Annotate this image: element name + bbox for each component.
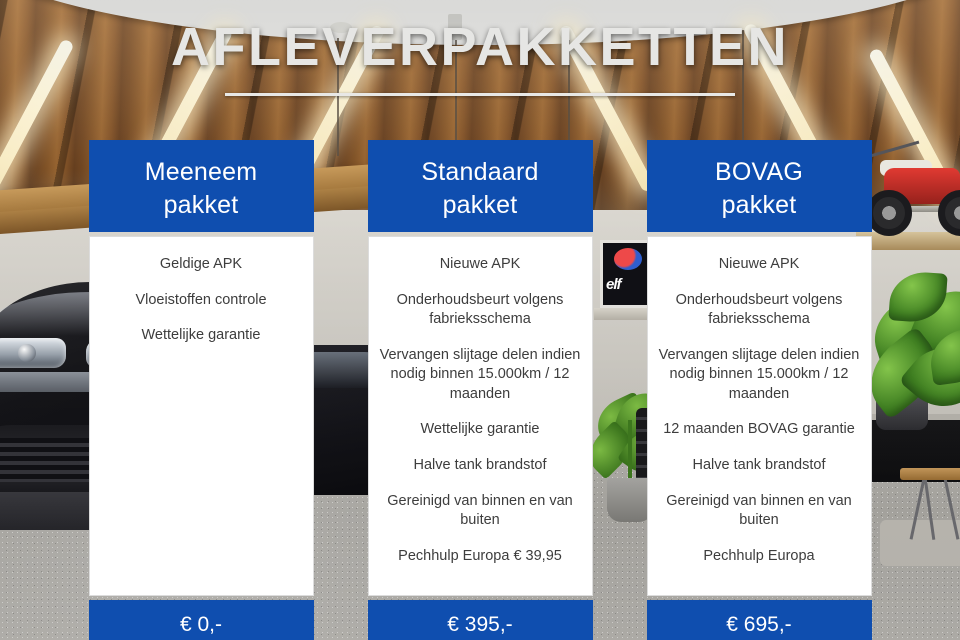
- pricing-cards: Meeneem pakket Geldige APK Vloeistoffen …: [0, 140, 960, 640]
- page-title-block: AFLEVERPAKKETTEN: [0, 18, 960, 96]
- feature-item: Pechhulp Europa € 39,95: [380, 547, 581, 567]
- pricing-page: elf AFLEVERPAKKETTEN: [0, 0, 960, 640]
- card-body-standaard: Nieuwe APK Onderhoudsbeurt volgens fabri…: [368, 236, 593, 596]
- card-title-line2: pakket: [653, 189, 866, 222]
- pricing-card-meeneem[interactable]: Meeneem pakket Geldige APK Vloeistoffen …: [89, 140, 314, 640]
- feature-item: Halve tank brandstof: [380, 456, 581, 476]
- card-header-standaard: Standaard pakket: [368, 140, 593, 232]
- card-title-line1: Meeneem: [95, 156, 308, 189]
- card-price-meeneem[interactable]: € 0,-: [89, 600, 314, 640]
- feature-item: Vloeistoffen controle: [101, 291, 302, 311]
- title-divider: [225, 93, 735, 96]
- feature-item: Gereinigd van binnen en van buiten: [380, 492, 581, 531]
- pricing-card-standaard[interactable]: Standaard pakket Nieuwe APK Onderhoudsbe…: [368, 140, 593, 640]
- feature-item: Onderhoudsbeurt volgens fabrieksschema: [659, 291, 860, 330]
- card-header-meeneem: Meeneem pakket: [89, 140, 314, 232]
- card-header-bovag: BOVAG pakket: [647, 140, 872, 232]
- feature-item: Onderhoudsbeurt volgens fabrieksschema: [380, 291, 581, 330]
- card-body-meeneem: Geldige APK Vloeistoffen controle Wettel…: [89, 236, 314, 596]
- feature-item: Nieuwe APK: [659, 255, 860, 275]
- feature-item: Nieuwe APK: [380, 255, 581, 275]
- card-title-line1: BOVAG: [653, 156, 866, 189]
- card-title-line2: pakket: [374, 189, 587, 222]
- feature-item: Gereinigd van binnen en van buiten: [659, 492, 860, 531]
- card-price-bovag[interactable]: € 695,-: [647, 600, 872, 640]
- feature-item: Halve tank brandstof: [659, 456, 860, 476]
- feature-item: Pechhulp Europa: [659, 547, 860, 567]
- card-price-standaard[interactable]: € 395,-: [368, 600, 593, 640]
- card-title-line1: Standaard: [374, 156, 587, 189]
- feature-item: Geldige APK: [101, 255, 302, 275]
- feature-item: Wettelijke garantie: [101, 326, 302, 346]
- pricing-card-bovag[interactable]: BOVAG pakket Nieuwe APK Onderhoudsbeurt …: [647, 140, 872, 640]
- feature-item: Vervangen slijtage delen indien nodig bi…: [659, 346, 860, 405]
- feature-item: Vervangen slijtage delen indien nodig bi…: [380, 346, 581, 405]
- page-title: AFLEVERPAKKETTEN: [171, 18, 789, 77]
- card-body-bovag: Nieuwe APK Onderhoudsbeurt volgens fabri…: [647, 236, 872, 596]
- feature-item: 12 maanden BOVAG garantie: [659, 420, 860, 440]
- feature-item: Wettelijke garantie: [380, 420, 581, 440]
- card-title-line2: pakket: [95, 189, 308, 222]
